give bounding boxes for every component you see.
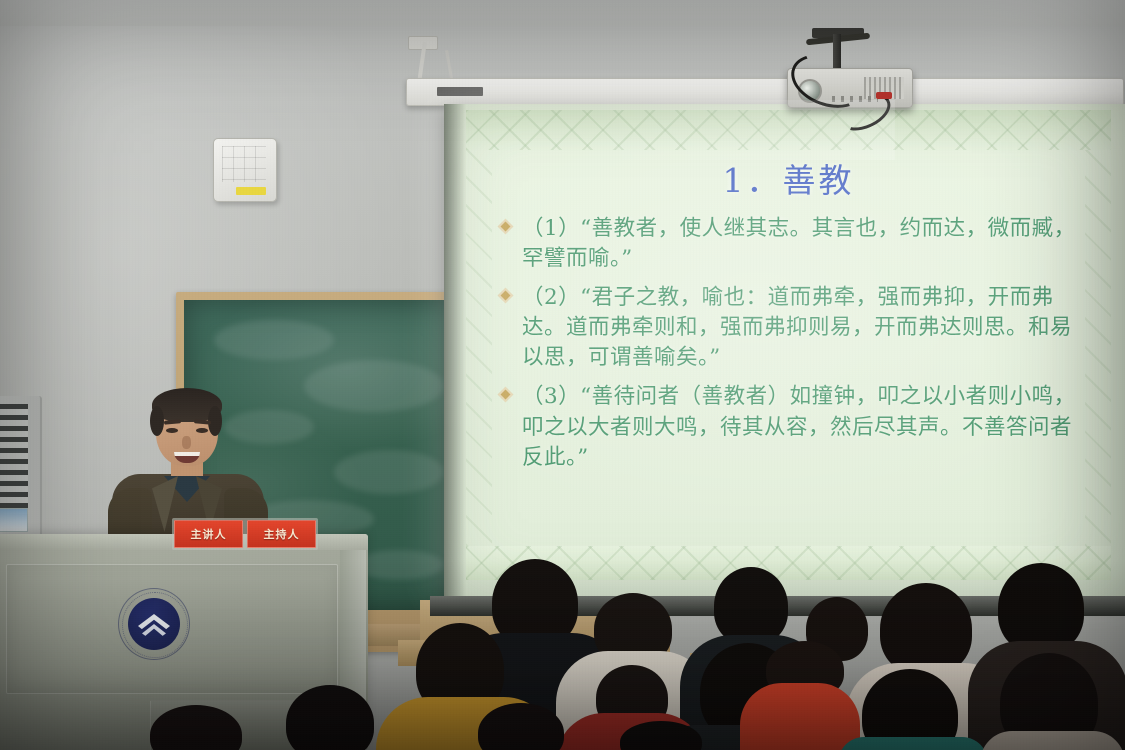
slide-bullet-item: （3）“善待问者（善教者）如撞钟，叩之以小者则小鸣，叩之以大者则大鸣，待其从容，…: [500, 382, 1093, 472]
presenter-hair-side-left: [150, 406, 164, 436]
nameplate-holder: 主讲人 主持人: [172, 518, 318, 550]
emblem-chevron-inner-icon: [142, 624, 166, 642]
presenter-eye-right: [196, 428, 208, 433]
air-conditioner-unit: [0, 396, 42, 546]
university-emblem: [118, 588, 190, 660]
bullet-text: （3）“善待问者（善教者）如撞钟，叩之以小者则小鸣，叩之以大者则大鸣，待其从容，…: [522, 382, 1093, 472]
bullet-marker: [500, 214, 522, 274]
bullet-marker: [500, 283, 522, 373]
presenter-eye-left: [166, 428, 178, 433]
lecture-hall-photo: 1．善教 （1）“善教者，使人继其志。其言也，约而达，微而臧，罕譬而喻。” （2…: [0, 0, 1125, 750]
diamond-bullet-icon: [498, 387, 514, 403]
nameplate-host[interactable]: 主持人: [247, 520, 316, 548]
bullet-text: （2）“君子之教，喻也：道而弗牵，强而弗抑，开而弗达。道而弗牵则和，强而弗抑则易…: [522, 283, 1093, 373]
ceiling-strip: [0, 0, 1125, 26]
slide-border-left: [466, 150, 492, 546]
slide-border-bottom: [466, 546, 1111, 580]
wall-control-panel[interactable]: [213, 138, 277, 202]
bullet-marker: [500, 382, 522, 472]
nameplate-speaker[interactable]: 主讲人: [174, 520, 243, 548]
nameplate-speaker-label: 主讲人: [191, 526, 227, 542]
screen-brand-label: [437, 87, 483, 96]
control-panel-label: [236, 187, 266, 195]
podium-lower-shelf: [150, 700, 312, 750]
slide-bullet-list: （1）“善教者，使人继其志。其言也，约而达，微而臧，罕譬而喻。” （2）“君子之…: [500, 214, 1093, 482]
podium-side-edge: [340, 550, 366, 750]
projector-power-connector: [876, 92, 892, 99]
projection-screen-housing[interactable]: [406, 78, 1124, 106]
diamond-bullet-icon: [498, 288, 514, 304]
projection-screen: 1．善教 （1）“善教者，使人继其志。其言也，约而达，微而臧，罕譬而喻。” （2…: [444, 104, 1125, 596]
slide-border-top: [466, 110, 1111, 150]
slide-title: 1．善教: [466, 154, 1111, 202]
slide-bullet-item: （2）“君子之教，喻也：道而弗牵，强而弗抑，开而弗达。道而弗牵则和，强而弗抑则易…: [500, 283, 1093, 373]
ac-louvers: [0, 404, 28, 514]
diamond-bullet-icon: [498, 219, 514, 235]
nameplate-host-label: 主持人: [264, 526, 300, 542]
ac-label: [0, 508, 28, 532]
screen-left-shadow: [444, 104, 466, 596]
bullet-text: （1）“善教者，使人继其志。其言也，约而达，微而臧，罕譬而喻。”: [522, 214, 1093, 274]
screen-bottom-bar: [430, 596, 1125, 616]
slide-bullet-item: （1）“善教者，使人继其志。其言也，约而达，微而臧，罕譬而喻。”: [500, 214, 1093, 274]
presentation-slide: 1．善教 （1）“善教者，使人继其志。其言也，约而达，微而臧，罕譬而喻。” （2…: [466, 110, 1111, 580]
presenter-nose: [182, 436, 191, 449]
emblem-disc: [128, 598, 180, 650]
control-panel-grille: [222, 146, 266, 182]
